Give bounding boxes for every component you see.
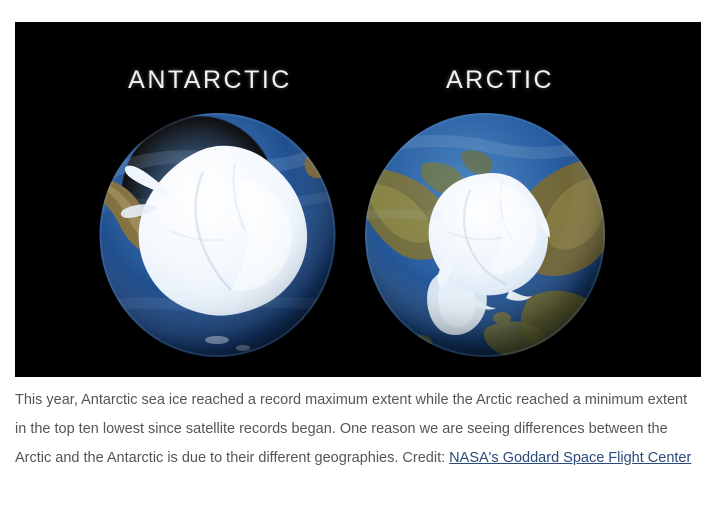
page-root: ANTARCTIC ARCTIC This year, Antarctic se…	[0, 0, 723, 519]
figure-image-panel: ANTARCTIC ARCTIC	[15, 22, 701, 377]
antarctic-globe	[97, 112, 338, 358]
figure-caption: This year, Antarctic sea ice reached a r…	[15, 386, 695, 473]
arctic-globe	[362, 112, 608, 358]
antarctic-label: ANTARCTIC	[75, 66, 345, 95]
nasa-goddard-link[interactable]: NASA's Goddard Space Flight Center	[449, 450, 691, 466]
arctic-label: ARCTIC	[365, 66, 635, 95]
